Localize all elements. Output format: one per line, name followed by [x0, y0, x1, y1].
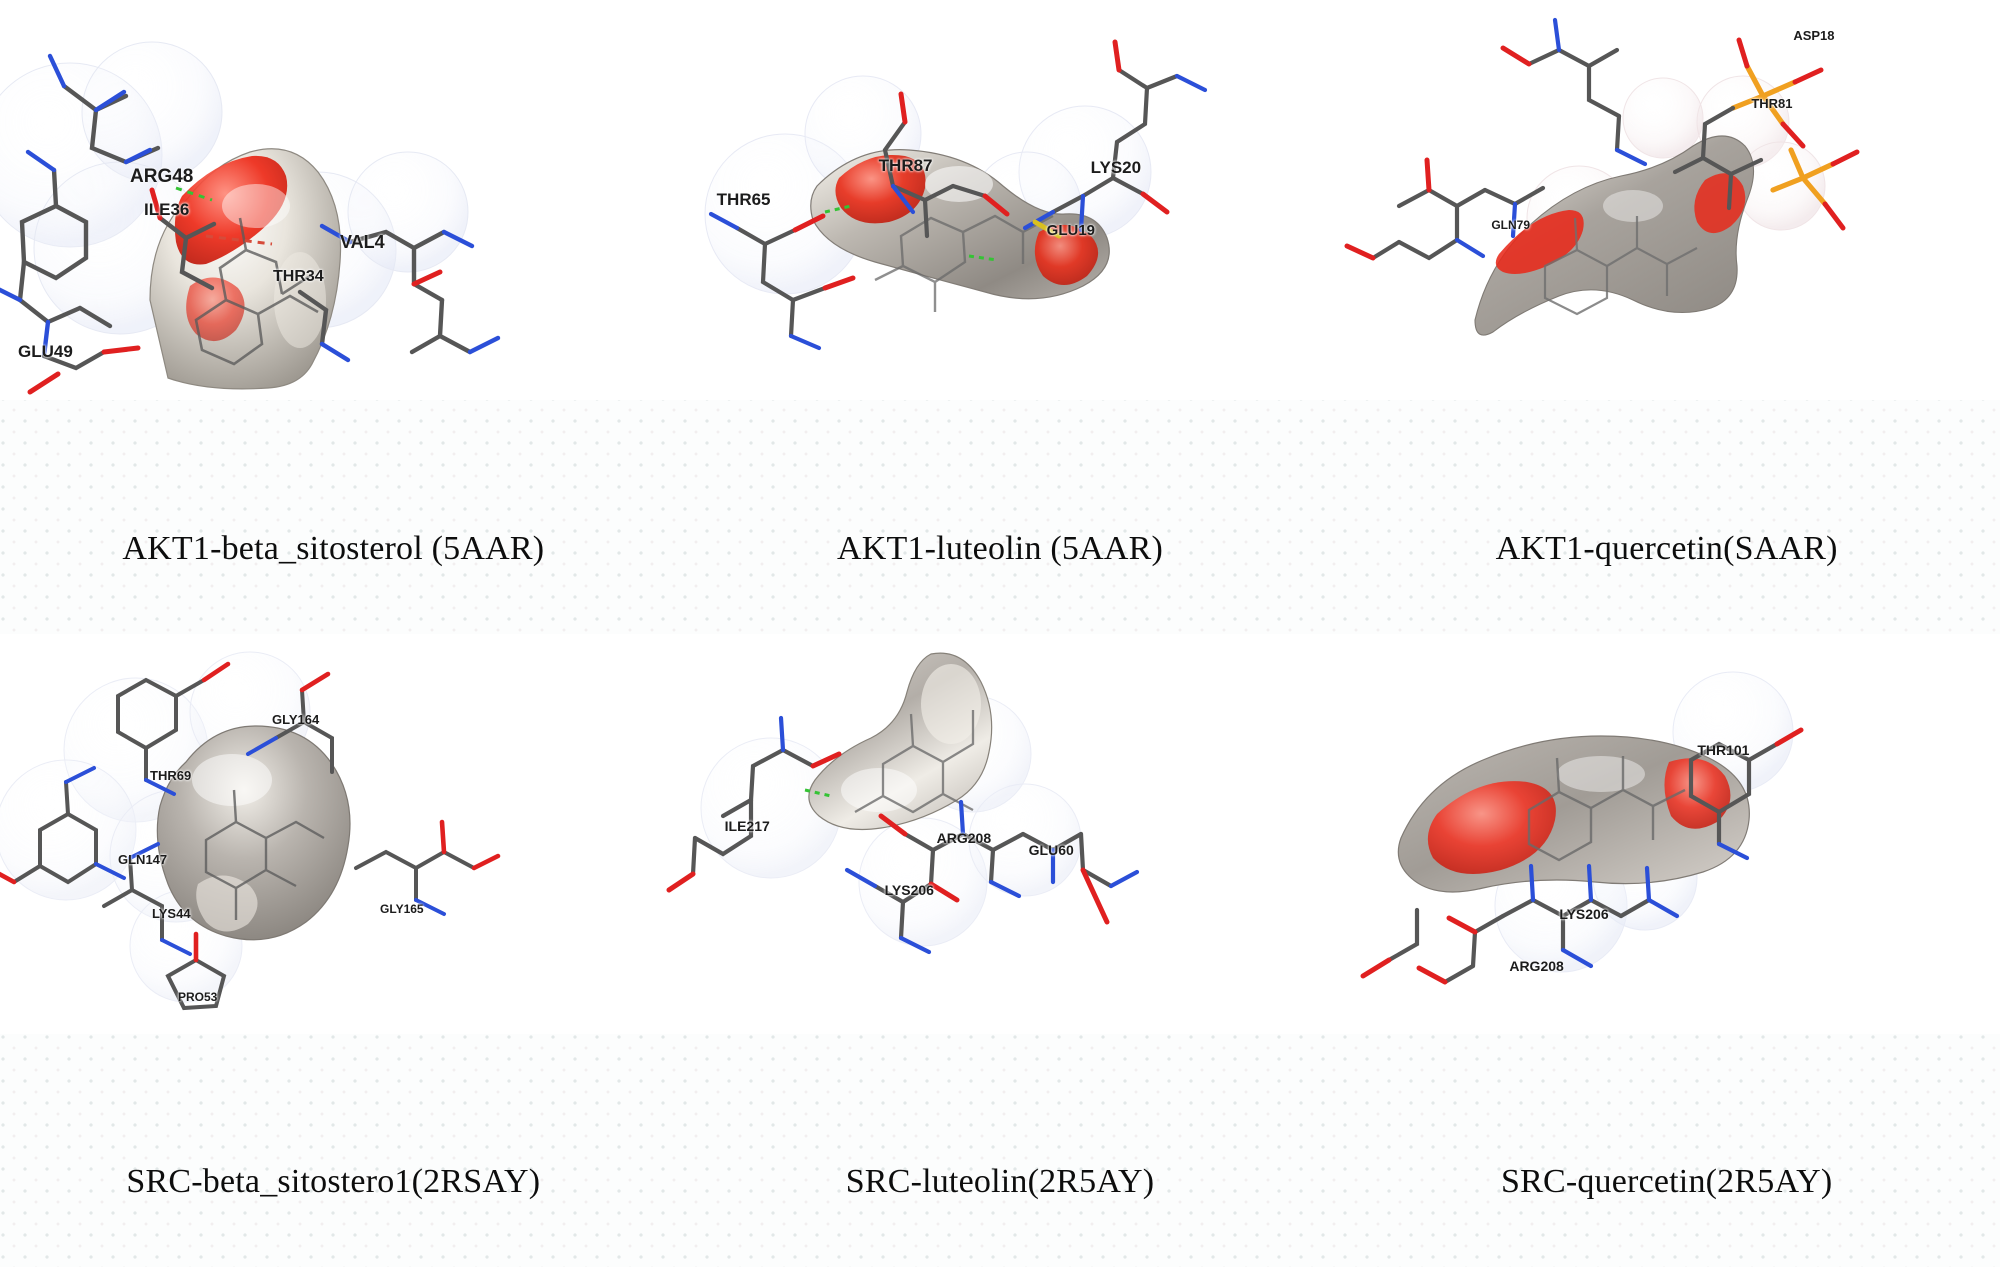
panel-caption: SRC-quercetin(2R5AY)	[1333, 1163, 2000, 1201]
docking-figure-grid: ARG48 ILE36 VAL4 THR34 GLU49 AKT1-beta_s…	[0, 0, 2000, 1267]
panel-akt1-luteolin: THR65 THR87 LYS20 GLU19 AKT1-luteolin (5…	[667, 0, 1334, 634]
residue-label-lys206: LYS206	[885, 882, 934, 898]
render-akt1-luteolin: THR65 THR87 LYS20 GLU19	[667, 0, 1334, 400]
residue-label-thr34: THR34	[273, 268, 324, 286]
residue-label-asp18: ASP18	[1793, 28, 1834, 43]
residue-label-glu60: GLU60	[1029, 842, 1074, 858]
residue-label-glu49: GLU49	[18, 342, 73, 362]
render-akt1-beta-sitosterol: ARG48 ILE36 VAL4 THR34 GLU49	[0, 0, 667, 400]
panel-caption: AKT1-quercetin(SAAR)	[1333, 530, 2000, 568]
residue-label-lys20: LYS20	[1091, 158, 1141, 178]
residue-label-lys44: LYS44	[152, 906, 191, 921]
panel-caption: SRC-luteolin(2R5AY)	[667, 1163, 1334, 1201]
residue-label-ile36: ILE36	[144, 200, 189, 220]
residue-label-thr69: THR69	[150, 768, 191, 783]
render-akt1-quercetin: THR81 ASP18 GLN79	[1333, 0, 2000, 400]
panel-src-beta-sitosterol: GLY164 THR69 GLN147 LYS44 PRO53 GLY165 S…	[0, 634, 667, 1267]
panel-src-quercetin: THR101 LYS206 ARG208 SRC-quercetin(2R5AY…	[1333, 634, 2000, 1267]
ligand-surface	[1399, 736, 1750, 892]
residue-label-arg48: ARG48	[130, 166, 193, 188]
render-src-quercetin: THR101 LYS206 ARG208	[1333, 634, 2000, 1034]
residue-label-gln79: GLN79	[1491, 218, 1530, 232]
residue-label-arg208: ARG208	[1509, 958, 1563, 974]
residue-label-ile217: ILE217	[725, 818, 770, 834]
residue-label-gln147: GLN147	[118, 852, 167, 867]
residue-label-val4: VAL4	[340, 232, 385, 253]
residue-label-pro53: PRO53	[178, 990, 217, 1004]
residue-label-gly165: GLY165	[380, 902, 424, 916]
panel-caption: SRC-beta_sitostero1(2RSAY)	[0, 1163, 667, 1201]
panel-src-luteolin: ILE217 ARG208 LYS206 GLU60 SRC-luteolin(…	[667, 634, 1334, 1267]
panel-caption: AKT1-beta_sitosterol (5AAR)	[0, 530, 667, 568]
ligand-surface	[1475, 136, 1754, 335]
panel-akt1-beta-sitosterol: ARG48 ILE36 VAL4 THR34 GLU49 AKT1-beta_s…	[0, 0, 667, 634]
render-src-luteolin: ILE217 ARG208 LYS206 GLU60	[667, 634, 1334, 1034]
residue-label-thr81: THR81	[1751, 96, 1792, 111]
residue-label-thr87: THR87	[879, 156, 933, 176]
panel-caption: AKT1-luteolin (5AAR)	[667, 530, 1334, 568]
residue-label-thr65: THR65	[717, 190, 771, 210]
residue-label-glu19: GLU19	[1047, 222, 1095, 239]
panel-akt1-quercetin: THR81 ASP18 GLN79 AKT1-quercetin(SAAR)	[1333, 0, 2000, 634]
residue-label-thr101: THR101	[1697, 742, 1749, 758]
render-src-beta-sitosterol: GLY164 THR69 GLN147 LYS44 PRO53 GLY165	[0, 634, 667, 1034]
residue-label-gly164: GLY164	[272, 712, 319, 727]
residue-label-lys206: LYS206	[1559, 906, 1608, 922]
residue-label-arg208: ARG208	[937, 830, 991, 846]
